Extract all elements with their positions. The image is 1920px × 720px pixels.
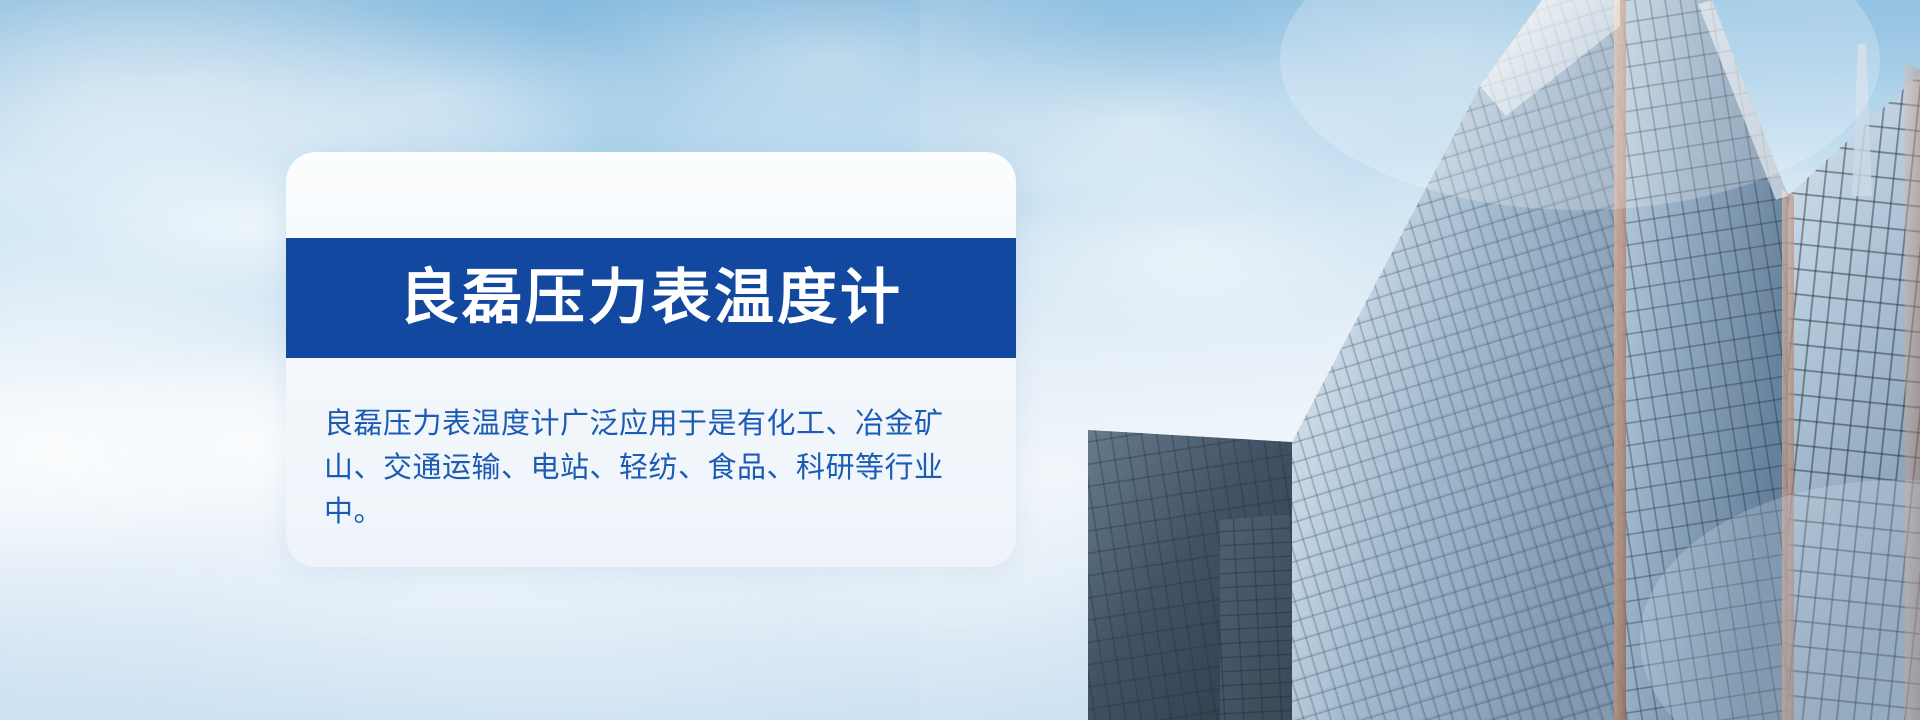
banner-stage: 良磊压力表温度计 良磊压力表温度计广泛应用于是有化工、冶金矿山、交通运输、电站、… [0,0,1920,720]
page-title: 良磊压力表温度计 [399,268,903,328]
hero-description: 良磊压力表温度计广泛应用于是有化工、冶金矿山、交通运输、电站、轻纺、食品、科研等… [320,402,1000,534]
hero-card: 良磊压力表温度计 良磊压力表温度计广泛应用于是有化工、冶金矿山、交通运输、电站、… [286,152,1016,567]
hero-title-bar: 良磊压力表温度计 [286,238,1016,358]
skyscraper-photo [920,0,1920,720]
